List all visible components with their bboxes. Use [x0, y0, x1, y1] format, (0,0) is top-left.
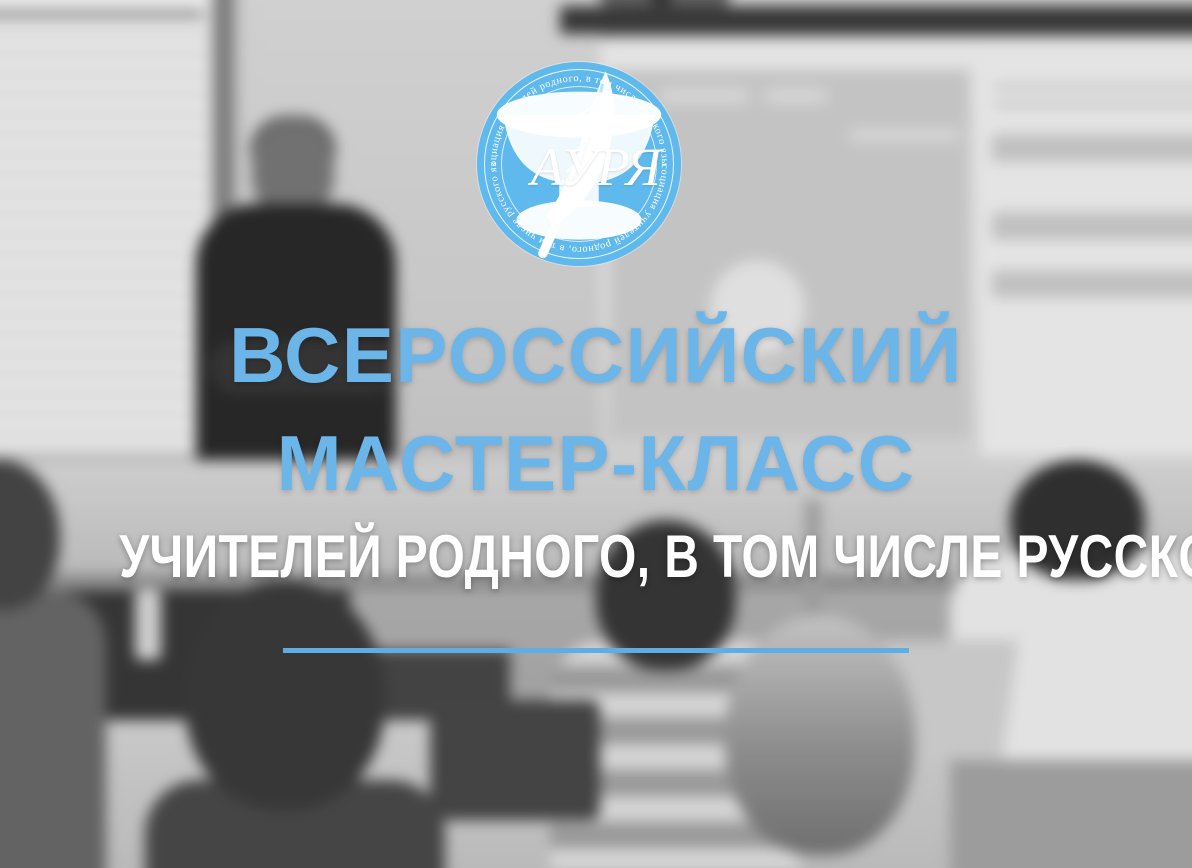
poster-subtitle: УЧИТЕЛЕЙ РОДНОГО, В ТОМ ЧИСЛЕ РУССКОГО, …: [119, 527, 1073, 587]
student-body-lower: [950, 760, 1192, 868]
sidebar-text-line: [994, 84, 1192, 89]
student-head: [185, 580, 385, 810]
teacher-head: [252, 120, 334, 216]
screen-chip: [765, 88, 827, 104]
accent-divider: [283, 648, 909, 653]
sidebar-text-line: [994, 102, 1192, 107]
aurya-logo: Ассоциация учителей родного, в том числе…: [477, 62, 681, 266]
student-body: [0, 590, 106, 868]
student-silhouette: [155, 580, 435, 840]
ceiling-strip: [560, 6, 1192, 34]
poster: Ассоциация учителей родного, в том числе…: [0, 0, 1192, 868]
poster-title-line-1: ВСЕРОССИЙСКИЙ: [0, 316, 1192, 396]
poster-title-line-2: МАСТЕР-КЛАСС: [0, 424, 1192, 504]
logo-monogram: АУРЯ: [477, 140, 681, 194]
chair: [430, 700, 600, 820]
sidebar-row: [992, 212, 1192, 240]
projection-screen: [600, 34, 1192, 468]
sidebar-row: [992, 270, 1192, 298]
screen-chip: [850, 128, 960, 142]
student-silhouette: [0, 460, 90, 860]
sidebar-row: [992, 134, 1192, 162]
